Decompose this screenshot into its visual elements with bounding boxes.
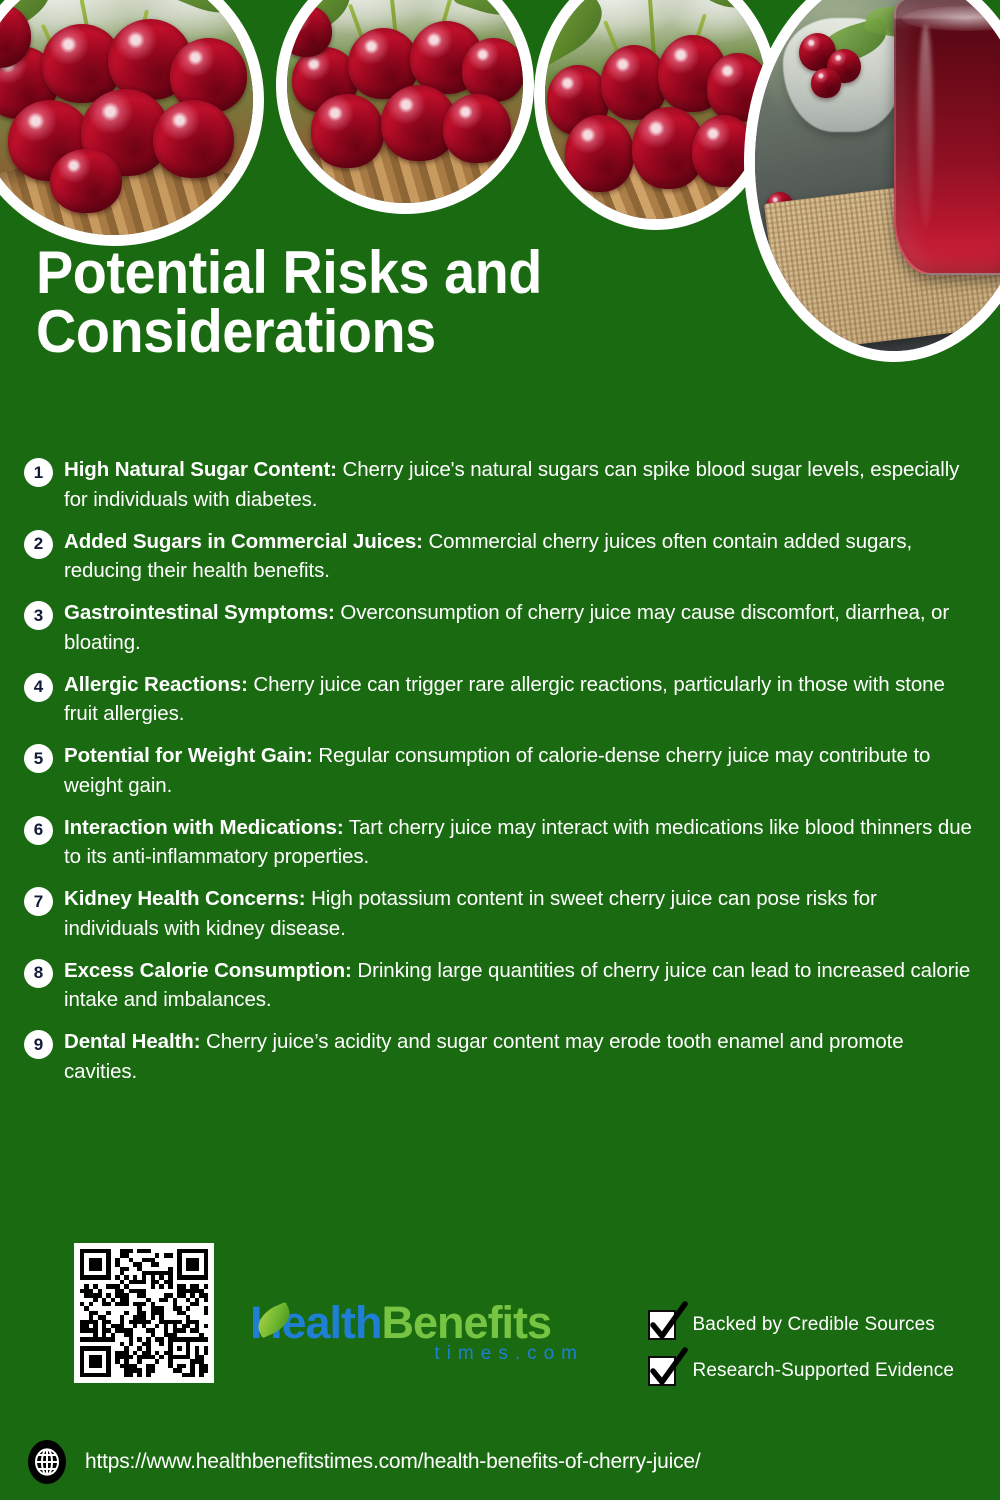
list-item-label: Dental Health: <box>64 1030 200 1053</box>
cherry-basket-illustration <box>0 0 253 235</box>
checkmark-icon <box>648 1356 676 1386</box>
list-item-label: Added Sugars in Commercial Juices: <box>64 530 423 553</box>
list-item-label: Interaction with Medications: <box>64 816 344 839</box>
list-item: 9 Dental Health: Cherry juice’s acidity … <box>24 1027 976 1086</box>
list-item-number: 5 <box>24 744 53 773</box>
logo-part-benefits: Benefits <box>382 1297 552 1348</box>
list-item: 2 Added Sugars in Commercial Juices: Com… <box>24 527 976 586</box>
page-title-wrap: Potential Risks and Considerations <box>36 243 736 362</box>
list-item-text: Gastrointestinal Symptoms: Overconsumpti… <box>64 598 976 657</box>
qr-code[interactable] <box>74 1243 214 1383</box>
source-url-bar[interactable]: https://www.healthbenefitstimes.com/heal… <box>28 1440 701 1484</box>
list-item-number: 4 <box>24 673 53 702</box>
list-item-text: Added Sugars in Commercial Juices: Comme… <box>64 527 976 586</box>
trust-badges: Backed by Credible Sources Research-Supp… <box>648 1310 954 1402</box>
cherry-basket-illustration <box>287 0 523 203</box>
badge-backed-by-credible-sources: Backed by Credible Sources <box>648 1310 954 1340</box>
badge-research-supported-evidence: Research-Supported Evidence <box>648 1356 954 1386</box>
hero-photo-cherry-juice-glass <box>744 0 1000 362</box>
cherry-basket-illustration <box>545 0 767 219</box>
list-item-number: 6 <box>24 816 53 845</box>
list-item-label: Potential for Weight Gain: <box>64 744 313 767</box>
list-item: 4 Allergic Reactions: Cherry juice can t… <box>24 670 976 729</box>
list-item-number: 9 <box>24 1030 53 1059</box>
list-item-number: 8 <box>24 959 53 988</box>
list-item-text: Excess Calorie Consumption: Drinking lar… <box>64 956 976 1015</box>
badge-label: Research-Supported Evidence <box>693 1360 954 1382</box>
list-item-text: Kidney Health Concerns: High potassium c… <box>64 884 976 943</box>
list-item: 7 Kidney Health Concerns: High potassium… <box>24 884 976 943</box>
badge-label: Backed by Credible Sources <box>693 1314 935 1336</box>
list-item: 3 Gastrointestinal Symptoms: Overconsump… <box>24 598 976 657</box>
list-item-number: 3 <box>24 601 53 630</box>
list-item-label: Excess Calorie Consumption: <box>64 959 352 982</box>
list-item: 6 Interaction with Medications: Tart che… <box>24 813 976 872</box>
list-item-number: 2 <box>24 530 53 559</box>
site-logo-wordmark: HealthBenefits <box>250 1300 590 1345</box>
list-item-number: 7 <box>24 887 53 916</box>
list-item-text: Allergic Reactions: Cherry juice can tri… <box>64 670 976 729</box>
globe-icon <box>28 1440 66 1484</box>
list-item-label: High Natural Sugar Content: <box>64 458 337 481</box>
list-item-number: 1 <box>24 458 53 487</box>
list-item-text: High Natural Sugar Content: Cherry juice… <box>64 455 976 514</box>
risks-list: 1 High Natural Sugar Content: Cherry jui… <box>24 455 976 1099</box>
list-item-text: Potential for Weight Gain: Regular consu… <box>64 741 976 800</box>
list-item: 1 High Natural Sugar Content: Cherry jui… <box>24 455 976 514</box>
page-title: Potential Risks and Considerations <box>36 243 687 362</box>
checkmark-icon <box>648 1310 676 1340</box>
qr-code-pattern <box>80 1249 208 1377</box>
list-item-label: Kidney Health Concerns: <box>64 887 305 910</box>
list-item-label: Allergic Reactions: <box>64 673 248 696</box>
list-item-text: Interaction with Medications: Tart cherr… <box>64 813 976 872</box>
site-logo[interactable]: HealthBenefits times.com <box>250 1300 590 1365</box>
list-item: 8 Excess Calorie Consumption: Drinking l… <box>24 956 976 1015</box>
hero-photo-cherries-in-basket-3 <box>534 0 778 230</box>
source-url-text: https://www.healthbenefitstimes.com/heal… <box>85 1450 701 1474</box>
hero-photo-cherries-in-basket-2 <box>276 0 534 214</box>
list-item-label: Gastrointestinal Symptoms: <box>64 601 335 624</box>
list-item: 5 Potential for Weight Gain: Regular con… <box>24 741 976 800</box>
cherry-juice-illustration <box>755 0 1000 351</box>
hero-photo-cherries-in-basket-1 <box>0 0 264 246</box>
list-item-text: Dental Health: Cherry juice’s acidity an… <box>64 1027 976 1086</box>
